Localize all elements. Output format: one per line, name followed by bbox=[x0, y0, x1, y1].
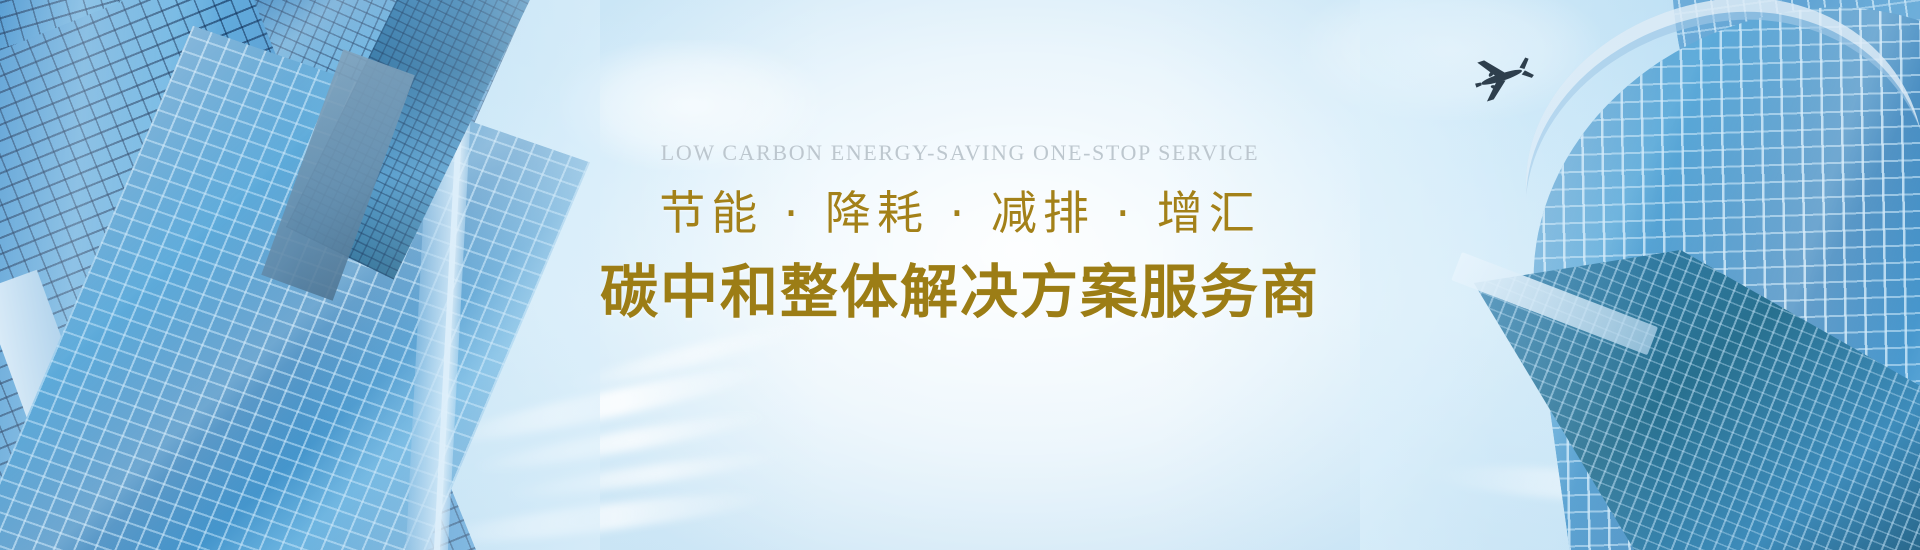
hero-banner: LOW CARBON ENERGY-SAVING ONE-STOP SERVIC… bbox=[0, 0, 1920, 550]
